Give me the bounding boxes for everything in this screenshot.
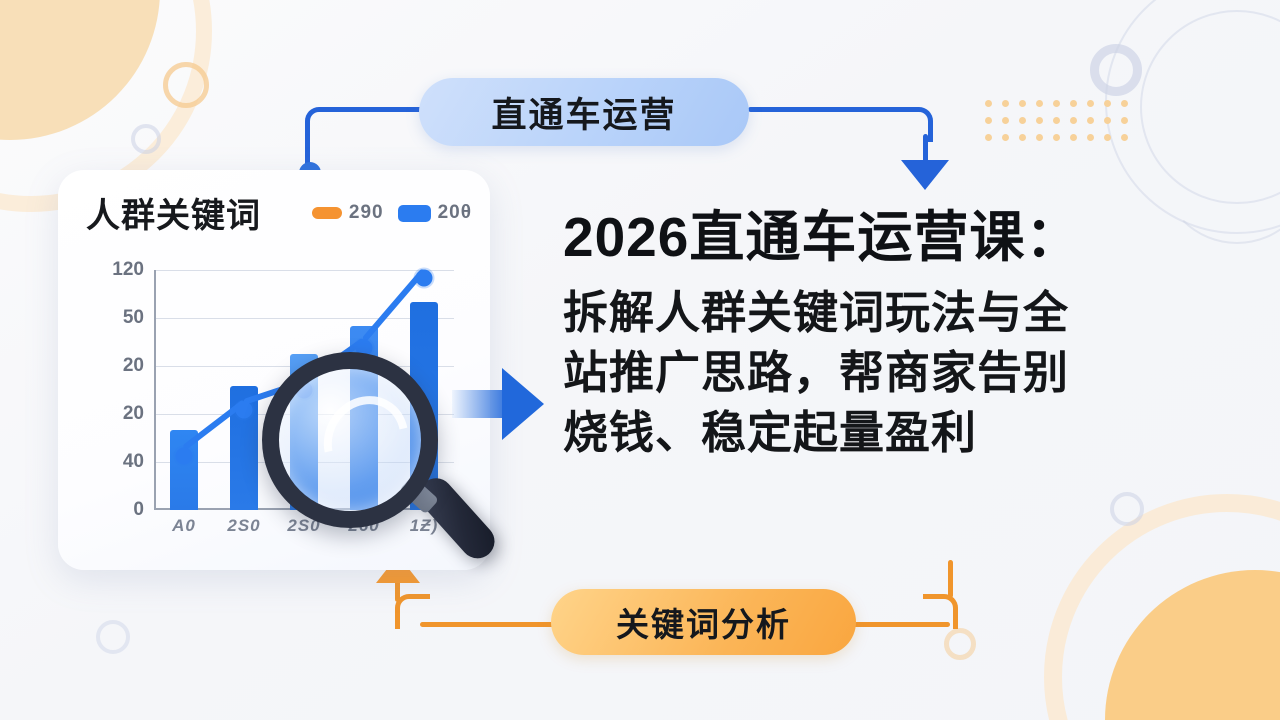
x-axis-tick-label: 2S0 <box>227 516 260 536</box>
gridline <box>156 270 454 271</box>
tag-pill-bottom[interactable]: 关键词分析 <box>551 589 856 655</box>
decor-small-ring-gray <box>131 124 161 154</box>
tag-pill-top[interactable]: 直通车运营 <box>419 78 749 146</box>
y-axis <box>154 270 156 510</box>
magnifying-glass-icon <box>262 352 462 552</box>
arrow-head <box>502 368 544 440</box>
decor-blob-bottom-right <box>1105 570 1280 720</box>
magnifier-lens <box>262 352 438 528</box>
chart-data-point <box>416 270 433 287</box>
blue-bar-swatch-icon <box>398 205 431 222</box>
y-axis-tick-label: 20 <box>123 355 144 377</box>
magnifier-glint <box>307 380 424 500</box>
body-copy-line-1: 站推广思路，帮商家告别 <box>563 343 1243 403</box>
y-axis-tick-label: 50 <box>123 307 144 329</box>
decor-dot-grid <box>985 100 1128 141</box>
decor-blob-top-left <box>0 0 160 140</box>
chart-legend: 290 20θ <box>312 202 472 224</box>
y-axis-tick-label: 120 <box>112 259 144 281</box>
page-title: 2026直通车运营课： <box>563 208 1243 267</box>
orange-line-swatch-icon <box>312 207 342 219</box>
decor-small-ring-orange <box>163 62 209 108</box>
copy-block: 2026直通车运营课： 拆解人群关键词玩法与全站推广思路，帮商家告别烧钱、稳定起… <box>563 208 1243 463</box>
decor-ring-bottom-right <box>1044 494 1280 720</box>
chart-data-point <box>176 448 193 465</box>
y-axis-tick-label: 40 <box>123 451 144 473</box>
tag-pill-top-label: 直通车运营 <box>491 87 676 138</box>
poster-canvas: 直通车运营 关键词分析 人群关键词 290 20θ 120502020400A0… <box>0 0 1280 720</box>
chart-title: 人群关键词 <box>86 188 261 237</box>
chart-data-point <box>236 402 253 419</box>
body-copy-line-0: 拆解人群关键词玩法与全 <box>563 283 1243 343</box>
arrow-down-icon <box>901 160 949 190</box>
legend-item-line: 290 <box>312 202 384 224</box>
y-axis-tick-label: 0 <box>133 499 144 521</box>
decor-ring-bottom-left <box>96 620 130 654</box>
right-arrow-icon <box>452 368 544 440</box>
y-axis-tick-label: 20 <box>123 403 144 425</box>
x-axis-tick-label: A0 <box>172 516 196 536</box>
decor-ring-mid-right <box>1110 492 1144 526</box>
arrow-stem <box>452 390 508 418</box>
decor-ring-bottom-mid <box>944 628 976 660</box>
legend-item-bar: 20θ <box>398 202 472 224</box>
legend-label-bar: 20θ <box>438 202 472 224</box>
legend-label-line: 290 <box>349 202 384 224</box>
tag-pill-bottom-label: 关键词分析 <box>616 598 791 646</box>
body-copy: 拆解人群关键词玩法与全站推广思路，帮商家告别烧钱、稳定起量盈利 <box>563 283 1243 463</box>
body-copy-line-2: 烧钱、稳定起量盈利 <box>563 403 1243 463</box>
